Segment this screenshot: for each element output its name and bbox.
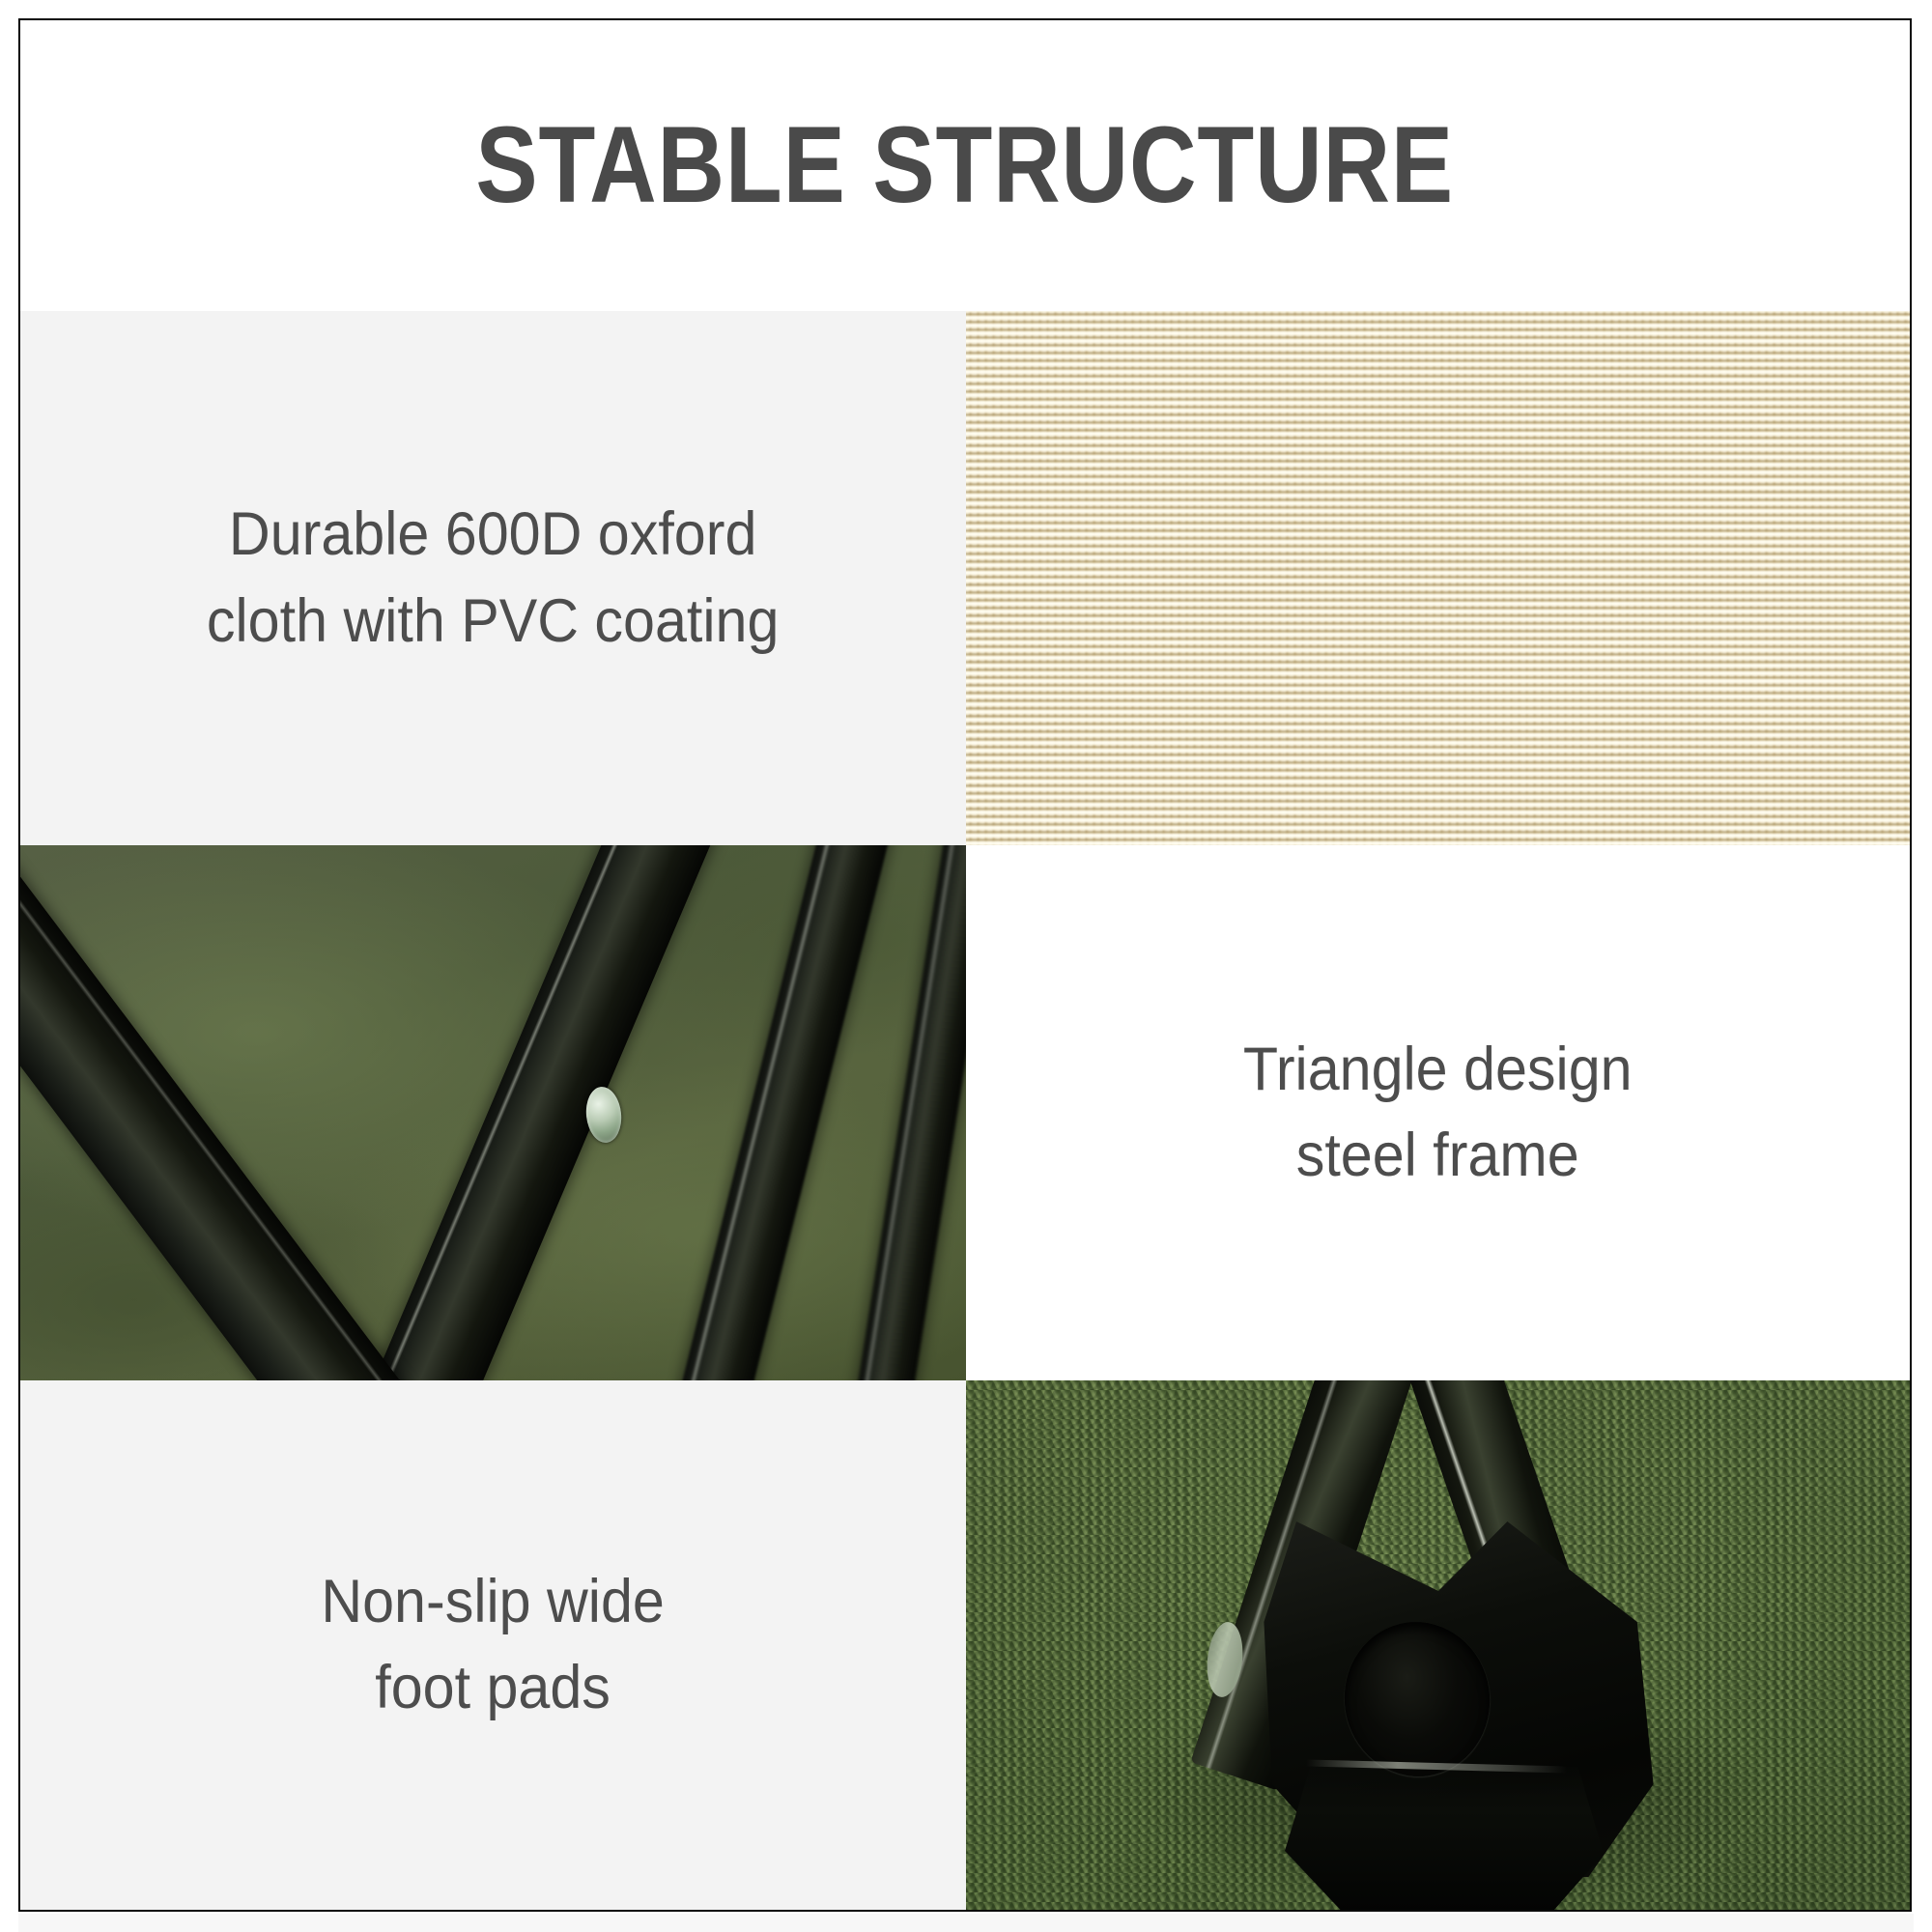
- feature-caption-frame: Triangle design steel frame: [966, 845, 1910, 1380]
- infographic-frame: STABLE STRUCTURE Durable 600D oxford clo…: [18, 18, 1912, 1912]
- title-bar: STABLE STRUCTURE: [20, 20, 1910, 310]
- bottom-strip: [18, 1914, 1914, 1932]
- non-slip-foot-pad-photo: [966, 1380, 1910, 1910]
- feature-caption-fabric: Durable 600D oxford cloth with PVC coati…: [20, 311, 966, 845]
- feature-caption-footpads: Non-slip wide foot pads: [20, 1380, 966, 1910]
- pole-joint-rivet: [583, 1085, 624, 1144]
- infographic-page: STABLE STRUCTURE Durable 600D oxford clo…: [0, 0, 1932, 1932]
- foot-pad-base: [1285, 1767, 1604, 1910]
- caption-text-fabric: Durable 600D oxford cloth with PVC coati…: [207, 492, 779, 665]
- crossing-steel-poles-photo: [20, 845, 966, 1380]
- caption-text-frame: Triangle design steel frame: [1243, 1027, 1633, 1200]
- caption-text-footpads: Non-slip wide foot pads: [322, 1559, 665, 1732]
- oxford-fabric-weave-photo: [966, 311, 1910, 845]
- page-title: STABLE STRUCTURE: [476, 111, 1455, 219]
- feature-grid: Durable 600D oxford cloth with PVC coati…: [20, 311, 1910, 1910]
